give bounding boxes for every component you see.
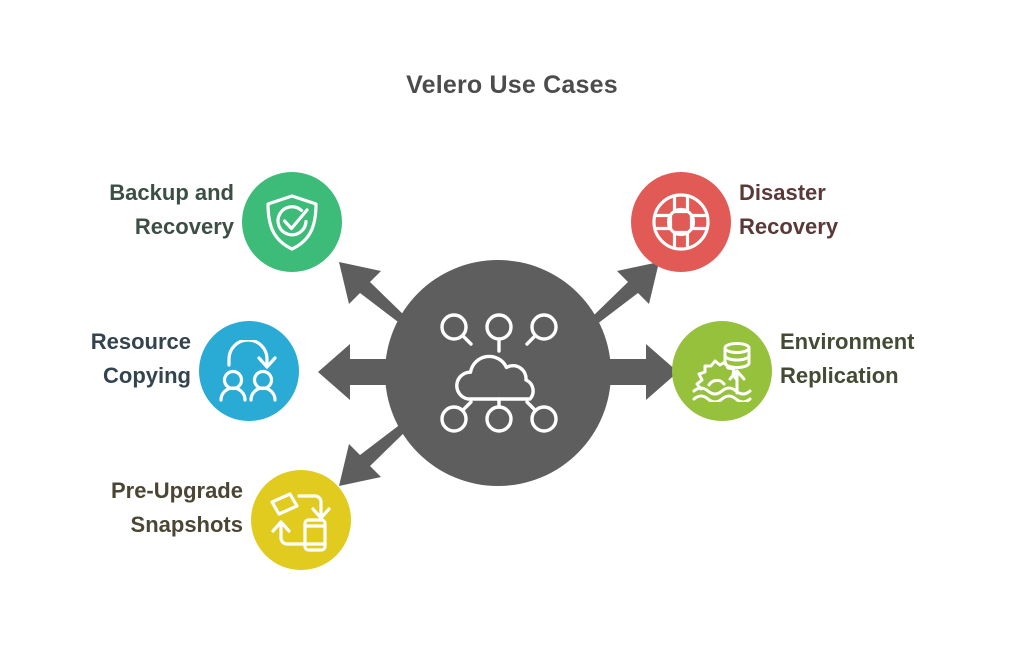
node-label-pre-upgrade-snapshots: Pre-Upgrade Snapshots [13, 474, 243, 542]
users-refresh-icon [217, 340, 281, 402]
cloud-network-icon [437, 310, 561, 436]
central-hub [310, 248, 690, 500]
node-label-environment-replication: Environment Replication [780, 325, 1010, 393]
node-icon-circle-pre-upgrade-snapshots[interactable] [251, 470, 351, 570]
device-rotate-icon [269, 488, 333, 552]
page-title: Velero Use Cases [0, 70, 1024, 100]
node-label-disaster-recovery: Disaster Recovery [739, 176, 969, 244]
shield-check-icon [261, 191, 323, 253]
node-label-resource-copying: Resource Copying [0, 325, 191, 393]
diagram-canvas: Velero Use Cases [0, 0, 1024, 646]
node-icon-circle-disaster-recovery[interactable] [631, 172, 731, 272]
gear-database-upload-icon [690, 340, 754, 402]
node-icon-circle-backup-and-recovery[interactable] [242, 172, 342, 272]
node-icon-circle-resource-copying[interactable] [199, 321, 299, 421]
lifebuoy-icon [649, 190, 713, 254]
node-icon-circle-environment-replication[interactable] [672, 321, 772, 421]
node-label-backup-and-recovery: Backup and Recovery [4, 176, 234, 244]
